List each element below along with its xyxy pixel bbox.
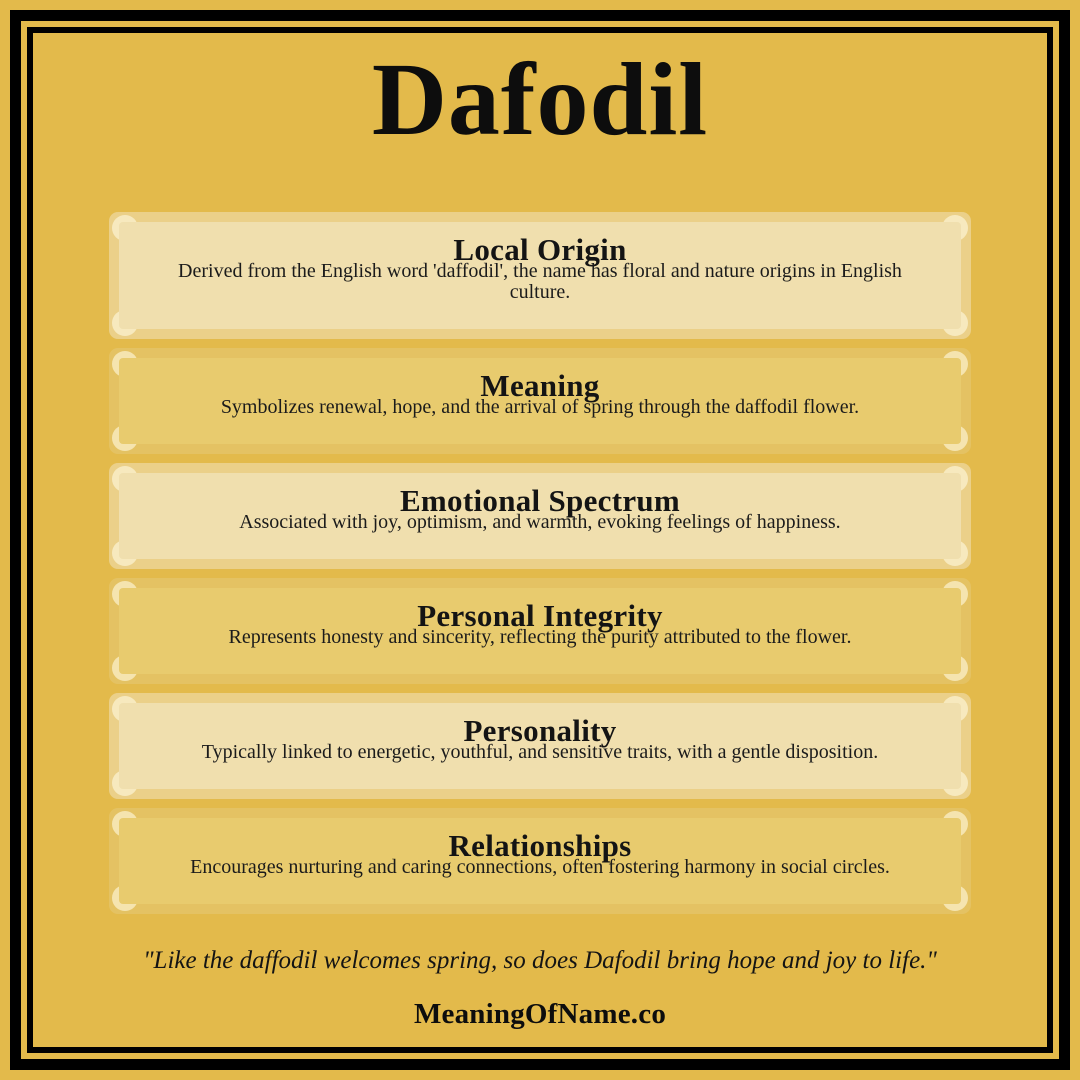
info-card: Personal Integrity Represents honesty an… xyxy=(109,578,971,684)
info-card-panel: Relationships Encourages nurturing and c… xyxy=(119,818,961,904)
info-card-body: Represents honesty and sincerity, reflec… xyxy=(153,627,927,648)
info-card: Meaning Symbolizes renewal, hope, and th… xyxy=(109,348,971,454)
info-card: Relationships Encourages nurturing and c… xyxy=(109,808,971,914)
info-card-panel: Local Origin Derived from the English wo… xyxy=(119,222,961,329)
info-card-panel: Meaning Symbolizes renewal, hope, and th… xyxy=(119,358,961,444)
info-card: Local Origin Derived from the English wo… xyxy=(109,212,971,339)
info-card-list: Local Origin Derived from the English wo… xyxy=(109,212,971,923)
info-card-body: Derived from the English word 'daffodil'… xyxy=(153,261,927,303)
info-card-body: Associated with joy, optimism, and warmt… xyxy=(153,512,927,533)
poster-content: Dafodil Local Origin Derived from the En… xyxy=(33,33,1047,1047)
info-card-body: Symbolizes renewal, hope, and the arriva… xyxy=(153,397,927,418)
info-card-panel: Personality Typically linked to energeti… xyxy=(119,703,961,789)
poster: Dafodil Local Origin Derived from the En… xyxy=(0,0,1080,1080)
page-title: Dafodil xyxy=(372,45,708,154)
info-card-panel: Emotional Spectrum Associated with joy, … xyxy=(119,473,961,559)
info-card: Emotional Spectrum Associated with joy, … xyxy=(109,463,971,569)
info-card-body: Typically linked to energetic, youthful,… xyxy=(153,742,927,763)
info-card-body: Encourages nurturing and caring connecti… xyxy=(153,857,927,878)
info-card-panel: Personal Integrity Represents honesty an… xyxy=(119,588,961,674)
footer-quote: "Like the daffodil welcomes spring, so d… xyxy=(33,946,1047,976)
poster-footer: "Like the daffodil welcomes spring, so d… xyxy=(33,946,1047,1047)
info-card: Personality Typically linked to energeti… xyxy=(109,693,971,799)
brand-name: MeaningOfName.co xyxy=(33,998,1047,1031)
